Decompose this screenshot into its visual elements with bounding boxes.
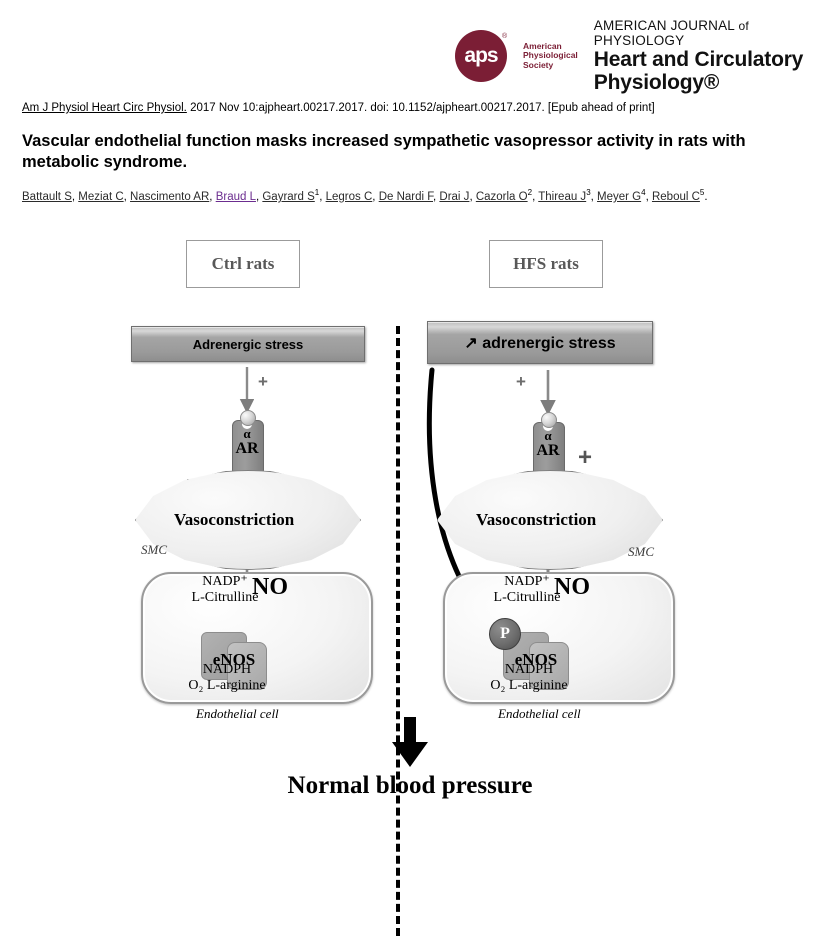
journal-source-link[interactable]: Am J Physiol Heart Circ Physiol. [22,102,187,114]
author-link[interactable]: Drai J [439,191,469,203]
adrenergic-stress-bar-ctrl: Adrenergic stress [131,326,365,362]
author-link[interactable]: Gayrard S [262,191,314,203]
plus-sign-ctrl-stress: + [258,372,268,392]
journal-series-title: AMERICAN JOURNAL of PHYSIOLOGY [594,18,820,48]
receptor-ar-hfs: AR [533,443,563,458]
nadph-ctrl: NADPH [168,662,286,678]
receptor-ligand-icon-ctrl [240,410,256,426]
receptor-alpha-hfs: α [533,428,563,443]
phosphorylation-node-hfs: P [489,618,521,650]
smc-label-hfs: SMC [628,544,654,560]
author-link[interactable]: Braud L [216,191,256,203]
aps-logo-registered-mark: ® [502,33,507,40]
journal-title-block: AMERICAN JOURNAL of PHYSIOLOGY Heart and… [594,18,820,94]
author-link[interactable]: Thireau J [538,191,586,203]
journal-masthead: aps ® American Physiological Society AME… [455,18,820,94]
author-link[interactable]: Meyer G [597,191,641,203]
aps-society-name: American Physiological Society [523,42,578,71]
no-label-ctrl: NO [252,574,288,601]
vasoconstriction-label-hfs: Vasoconstriction [476,510,596,530]
adrenergic-stress-bar-hfs: ↗ adrenergic stress [427,321,653,364]
receptor-label-hfs: α AR [533,428,563,458]
nadph-hfs: NADPH [470,662,588,678]
plus-sign-hfs-receptor: + [578,444,592,472]
receptor-ligand-icon-hfs [541,412,557,428]
group-label-ctrl: Ctrl rats [186,240,300,288]
author-link[interactable]: Cazorla O [476,191,528,203]
smc-label-ctrl: SMC [141,542,167,558]
receptor-alpha-ctrl: α [232,426,262,441]
receptor-label-ctrl: α AR [232,426,262,456]
figure-panel: Ctrl rats HFS rats Adrenergic stress ↗ a… [0,222,820,820]
author-link[interactable]: Legros C [326,191,373,203]
o2-arginine-hfs: O₂ L-arginine [470,678,588,694]
journal-name-line-2: Physiology® [594,71,820,94]
panel-divider [396,326,400,936]
endothelial-cell-caption-hfs: Endothelial cell [498,706,581,722]
no-label-hfs: NO [554,574,590,601]
author-link[interactable]: Meziat C [78,191,123,203]
author-link[interactable]: Battault S [22,191,72,203]
society-line-3: Society [523,61,578,71]
journal-series-a: AMERICAN JOURNAL [594,18,739,33]
vasoconstriction-label-ctrl: Vasoconstriction [174,510,294,530]
author-link[interactable]: De Nardi F [379,191,433,203]
aps-logo-initials: aps [455,30,507,82]
o2-arginine-ctrl: O₂ L-arginine [168,678,286,694]
author-link[interactable]: Reboul C [652,191,700,203]
nadph-arginine-ctrl: NADPH O₂ L-arginine [168,662,286,694]
normal-blood-pressure-label: Normal blood pressure [0,772,820,800]
citation-line: Am J Physiol Heart Circ Physiol. 2017 No… [22,102,655,114]
journal-series-of: of [738,19,748,33]
group-label-hfs: HFS rats [489,240,603,288]
plus-sign-hfs-stress: + [516,372,526,392]
endothelial-cell-caption-ctrl: Endothelial cell [196,706,279,722]
aps-logo-icon: aps ® [455,27,513,85]
alpha-ar-receptor-hfs: α AR [533,412,563,476]
figure-vector-overlay [0,222,820,820]
journal-series-b: PHYSIOLOGY [594,33,685,48]
journal-name-line-1: Heart and Circulatory [594,48,820,71]
author-link[interactable]: Nascimento AR [130,191,209,203]
author-separator: . [704,191,707,203]
alpha-ar-receptor-ctrl: α AR [232,410,262,474]
receptor-ar-ctrl: AR [232,441,262,456]
citation-details: 2017 Nov 10:ajpheart.00217.2017. doi: 10… [187,102,655,114]
article-title: Vascular endothelial function masks incr… [22,131,806,173]
author-list: Battault S, Meziat C, Nascimento AR, Bra… [22,185,806,205]
nadph-arginine-hfs: NADPH O₂ L-arginine [470,662,588,694]
